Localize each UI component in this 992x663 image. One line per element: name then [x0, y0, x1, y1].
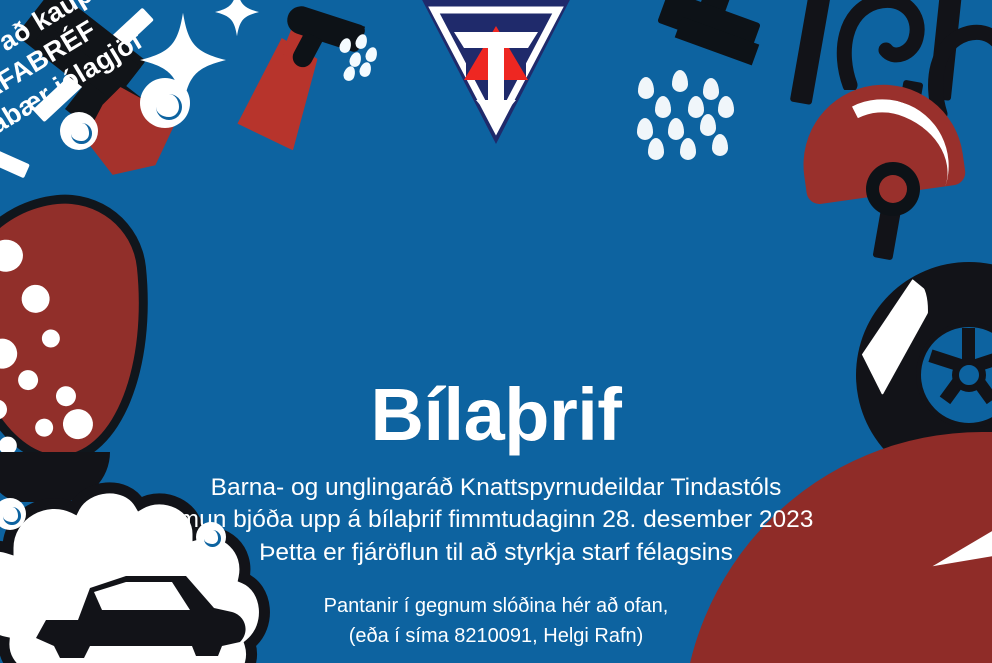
- water-droplet-icon: [688, 96, 704, 118]
- water-droplet-icon: [700, 114, 716, 136]
- spray-bottle-trigger-icon: [284, 3, 367, 54]
- spray-droplet-icon: [342, 65, 357, 83]
- water-droplet-icon: [680, 138, 696, 160]
- water-droplet-icon: [712, 134, 728, 156]
- spray-droplet-icon: [338, 37, 353, 55]
- cleaning-tool-handle-icon: [790, 0, 833, 105]
- cleaning-tool-handle-icon: [929, 0, 963, 101]
- bilathrif-poster: Hægt að kaupa GJAFABRÉF Frábær jólagjöf …: [0, 0, 992, 663]
- contact-phone-line[interactable]: (eða í síma 8210091, Helgi Rafn): [0, 621, 992, 651]
- water-droplet-icon: [718, 96, 734, 118]
- contact-line-1: Pantanir í gegnum slóðina hér að ofan,: [0, 591, 992, 621]
- water-droplet-icon: [648, 138, 664, 160]
- hook-tool-icon: [830, 0, 950, 90]
- intro-paragraph: Barna- og unglingaráð Knattspyrnudeildar…: [0, 472, 992, 569]
- intro-line-2: mun bjóða upp á bílaþrif fimmtudaginn 28…: [70, 504, 922, 536]
- water-droplet-icon: [668, 118, 684, 140]
- intro-line-1: Barna- og unglingaráð Knattspyrnudeildar…: [70, 472, 922, 504]
- water-droplet-icon: [638, 77, 654, 99]
- spray-droplet-icon: [348, 51, 363, 69]
- vacuum-cleaner-icon: [793, 74, 967, 205]
- spray-droplet-icon: [358, 61, 373, 79]
- spray-droplet-icon: [364, 46, 379, 64]
- page-title: Bílaþrif: [0, 378, 992, 452]
- shower-head-icon: [657, 0, 761, 56]
- spray-bottle-lever-icon: [289, 31, 323, 70]
- water-droplet-icon: [637, 118, 653, 140]
- water-droplet-icon: [703, 78, 719, 100]
- intro-line-3: Þetta er fjáröflun til að styrkja starf …: [70, 537, 922, 569]
- vacuum-wheel-icon: [866, 162, 920, 216]
- shower-neck-icon: [695, 0, 731, 27]
- water-droplet-icon: [655, 96, 671, 118]
- hook-tool-icon: [926, 24, 992, 120]
- poster-content: Bílaþrif Barna- og unglingaráð Knattspyr…: [0, 210, 992, 663]
- tindastoll-logo-icon: [416, 0, 576, 148]
- water-droplet-icon: [672, 70, 688, 92]
- vacuum-highlight-icon: [807, 82, 966, 223]
- shower-plate-icon: [675, 17, 760, 66]
- spray-bottle-neck-icon: [281, 17, 320, 64]
- spray-droplet-icon: [354, 33, 369, 51]
- spray-bottle-nozzle-icon: [345, 22, 365, 47]
- contact-block: Pantanir í gegnum slóðina hér að ofan, (…: [0, 591, 992, 651]
